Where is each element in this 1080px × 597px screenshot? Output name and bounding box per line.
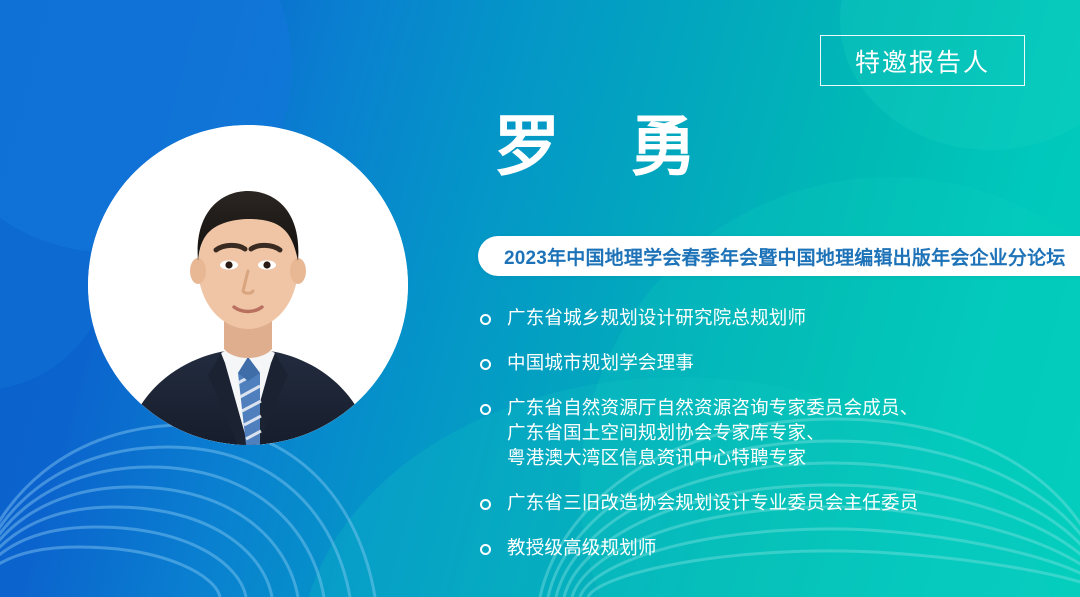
list-item: 广东省三旧改造协会规划设计专业委员会主任委员 [480, 490, 1060, 515]
conference-title-text: 2023年中国地理学会春季年会暨中国地理编辑出版年会企业分论坛 [504, 243, 1065, 270]
credential-text: 广东省三旧改造协会规划设计专业委员会主任委员 [507, 490, 918, 515]
credential-text: 广东省自然资源厅自然资源咨询专家委员会成员、 广东省国土空间规划协会专家库专家、… [507, 395, 918, 470]
credential-line: 广东省三旧改造协会规划设计专业委员会主任委员 [507, 490, 918, 515]
credential-line: 广东省国土空间规划协会专家库专家、 [507, 420, 918, 445]
conference-title-pill: 2023年中国地理学会春季年会暨中国地理编辑出版年会企业分论坛 [478, 236, 1080, 276]
credential-line: 广东省自然资源厅自然资源咨询专家委员会成员、 [507, 395, 918, 420]
bullet-ring-icon [480, 404, 491, 415]
speaker-portrait [88, 125, 408, 445]
credential-text: 中国城市规划学会理事 [507, 350, 694, 375]
list-item: 广东省自然资源厅自然资源咨询专家委员会成员、 广东省国土空间规划协会专家库专家、… [480, 395, 1060, 470]
list-item: 教授级高级规划师 [480, 535, 1060, 560]
avatar [88, 125, 408, 445]
speaker-poster: 特邀报告人 罗 勇 2023年中国地理学会春季年会暨中国地理编辑出版年会企业分论… [0, 0, 1080, 597]
speaker-name: 罗 勇 [494, 113, 722, 179]
credential-line: 粤港澳大湾区信息资讯中心特聘专家 [507, 445, 918, 470]
credential-line: 教授级高级规划师 [507, 535, 657, 560]
bullet-ring-icon [480, 544, 491, 555]
credential-line: 广东省城乡规划设计研究院总规划师 [507, 305, 806, 330]
bullet-ring-icon [480, 314, 491, 325]
credential-text: 教授级高级规划师 [507, 535, 657, 560]
bullet-ring-icon [480, 499, 491, 510]
credential-line: 中国城市规划学会理事 [507, 350, 694, 375]
list-item: 中国城市规划学会理事 [480, 350, 1060, 375]
invited-speaker-badge-label: 特邀报告人 [855, 43, 990, 79]
bullet-ring-icon [480, 359, 491, 370]
credentials-list: 广东省城乡规划设计研究院总规划师 中国城市规划学会理事 广东省自然资源厅自然资源… [480, 305, 1060, 560]
credential-text: 广东省城乡规划设计研究院总规划师 [507, 305, 806, 330]
invited-speaker-badge: 特邀报告人 [820, 35, 1025, 86]
list-item: 广东省城乡规划设计研究院总规划师 [480, 305, 1060, 330]
